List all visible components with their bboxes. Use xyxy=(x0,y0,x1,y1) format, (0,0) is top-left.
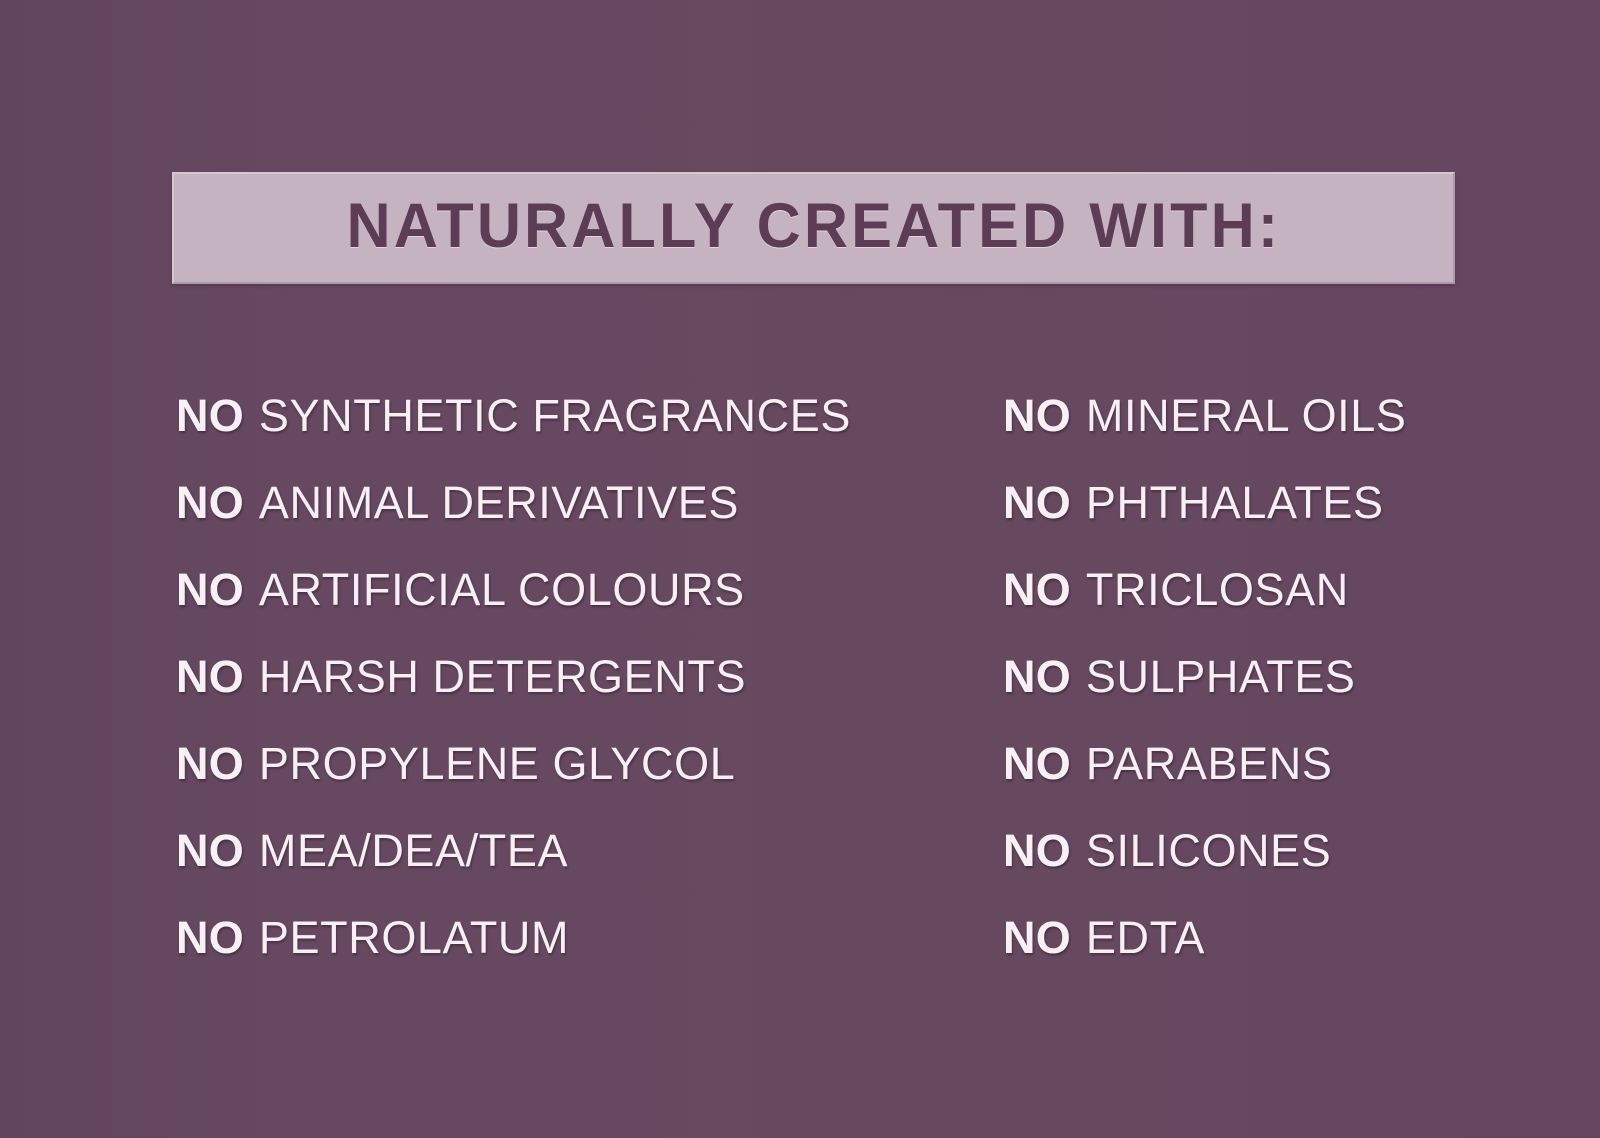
list-item: NO PHTHALATES xyxy=(1003,459,1563,546)
list-item: NO PROPYLENE GLYCOL xyxy=(176,720,976,807)
page-title: NATURALLY CREATED WITH: xyxy=(346,195,1281,261)
list-item: NO MEA/DEA/TEA xyxy=(176,807,976,894)
list-item: NO PARABENS xyxy=(1003,720,1563,807)
no-prefix-label: NO xyxy=(176,828,244,873)
ingredient-label: SILICONES xyxy=(1086,828,1331,873)
no-prefix-label: NO xyxy=(1003,480,1071,525)
list-column-left: NO SYNTHETIC FRAGRANCES NO ANIMAL DERIVA… xyxy=(176,372,976,981)
ingredient-label: TRICLOSAN xyxy=(1086,567,1349,612)
ingredient-label: SULPHATES xyxy=(1086,654,1356,699)
ingredient-label: PETROLATUM xyxy=(259,915,569,960)
list-column-right: NO MINERAL OILS NO PHTHALATES NO TRICLOS… xyxy=(1003,372,1563,981)
list-item: NO TRICLOSAN xyxy=(1003,546,1563,633)
list-item: NO SULPHATES xyxy=(1003,633,1563,720)
ingredient-label: MEA/DEA/TEA xyxy=(259,828,568,873)
no-prefix-label: NO xyxy=(176,654,244,699)
ingredient-label: SYNTHETIC FRAGRANCES xyxy=(259,393,851,438)
list-item: NO PETROLATUM xyxy=(176,894,976,981)
no-prefix-label: NO xyxy=(1003,828,1071,873)
no-prefix-label: NO xyxy=(176,480,244,525)
ingredient-label: HARSH DETERGENTS xyxy=(259,654,746,699)
ingredient-label: PHTHALATES xyxy=(1086,480,1384,525)
no-prefix-label: NO xyxy=(176,741,244,786)
no-prefix-label: NO xyxy=(1003,915,1071,960)
page-root: NATURALLY CREATED WITH: NO SYNTHETIC FRA… xyxy=(0,0,1600,1138)
ingredient-label: EDTA xyxy=(1086,915,1205,960)
list-item: NO ANIMAL DERIVATIVES xyxy=(176,459,976,546)
ingredient-label: PROPYLENE GLYCOL xyxy=(259,741,735,786)
no-prefix-label: NO xyxy=(1003,393,1071,438)
ingredient-label: ARTIFICIAL COLOURS xyxy=(259,567,745,612)
no-prefix-label: NO xyxy=(1003,741,1071,786)
list-item: NO ARTIFICIAL COLOURS xyxy=(176,546,976,633)
no-prefix-label: NO xyxy=(1003,654,1071,699)
header-banner: NATURALLY CREATED WITH: xyxy=(172,172,1455,284)
no-prefix-label: NO xyxy=(176,915,244,960)
no-prefix-label: NO xyxy=(176,393,244,438)
list-item: NO SILICONES xyxy=(1003,807,1563,894)
ingredient-label: PARABENS xyxy=(1086,741,1333,786)
list-item: NO MINERAL OILS xyxy=(1003,372,1563,459)
no-prefix-label: NO xyxy=(1003,567,1071,612)
ingredient-label: MINERAL OILS xyxy=(1086,393,1407,438)
list-item: NO SYNTHETIC FRAGRANCES xyxy=(176,372,976,459)
list-item: NO EDTA xyxy=(1003,894,1563,981)
ingredient-label: ANIMAL DERIVATIVES xyxy=(259,480,739,525)
list-item: NO HARSH DETERGENTS xyxy=(176,633,976,720)
no-prefix-label: NO xyxy=(176,567,244,612)
